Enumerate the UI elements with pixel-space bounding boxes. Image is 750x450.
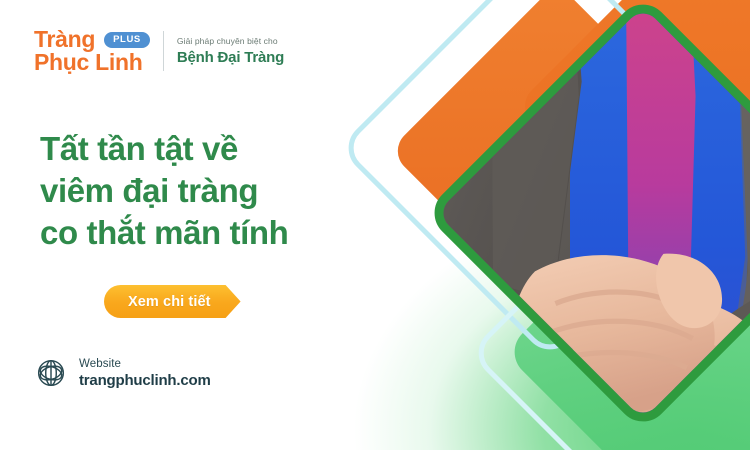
headline-line-3: co thắt mãn tính — [40, 212, 370, 254]
logo-divider — [163, 31, 164, 71]
page-title: Tất tần tật về viêm đại tràng co thắt mã… — [40, 128, 370, 255]
globe-icon — [34, 356, 68, 390]
headline-line-2: viêm đại tràng — [40, 170, 370, 212]
website-label: Website — [79, 358, 211, 370]
headline-line-1: Tất tần tật về — [40, 128, 370, 170]
website-url[interactable]: trangphuclinh.com — [79, 372, 211, 389]
logo-tagline: Giải pháp chuyên biệt cho Bệnh Đại Tràng — [177, 36, 284, 66]
logo-wordmark: Tràng PLUS Phục Linh — [34, 28, 150, 75]
view-details-button[interactable]: Xem chi tiết — [104, 285, 241, 318]
website-text: Website trangphuclinh.com — [79, 358, 211, 389]
logo-row-top: Tràng PLUS — [34, 28, 150, 51]
website-footer[interactable]: Website trangphuclinh.com — [34, 356, 211, 390]
tagline-small: Giải pháp chuyên biệt cho — [177, 36, 284, 46]
logo-line-1: Tràng — [34, 28, 95, 51]
brand-logo[interactable]: Tràng PLUS Phục Linh Giải pháp chuyên bi… — [34, 28, 284, 75]
promo-banner: Tràng PLUS Phục Linh Giải pháp chuyên bi… — [0, 0, 750, 450]
plus-badge: PLUS — [104, 32, 150, 48]
logo-line-2: Phục Linh — [34, 51, 150, 74]
tagline-big: Bệnh Đại Tràng — [177, 49, 284, 66]
artwork-composition — [360, 0, 750, 450]
